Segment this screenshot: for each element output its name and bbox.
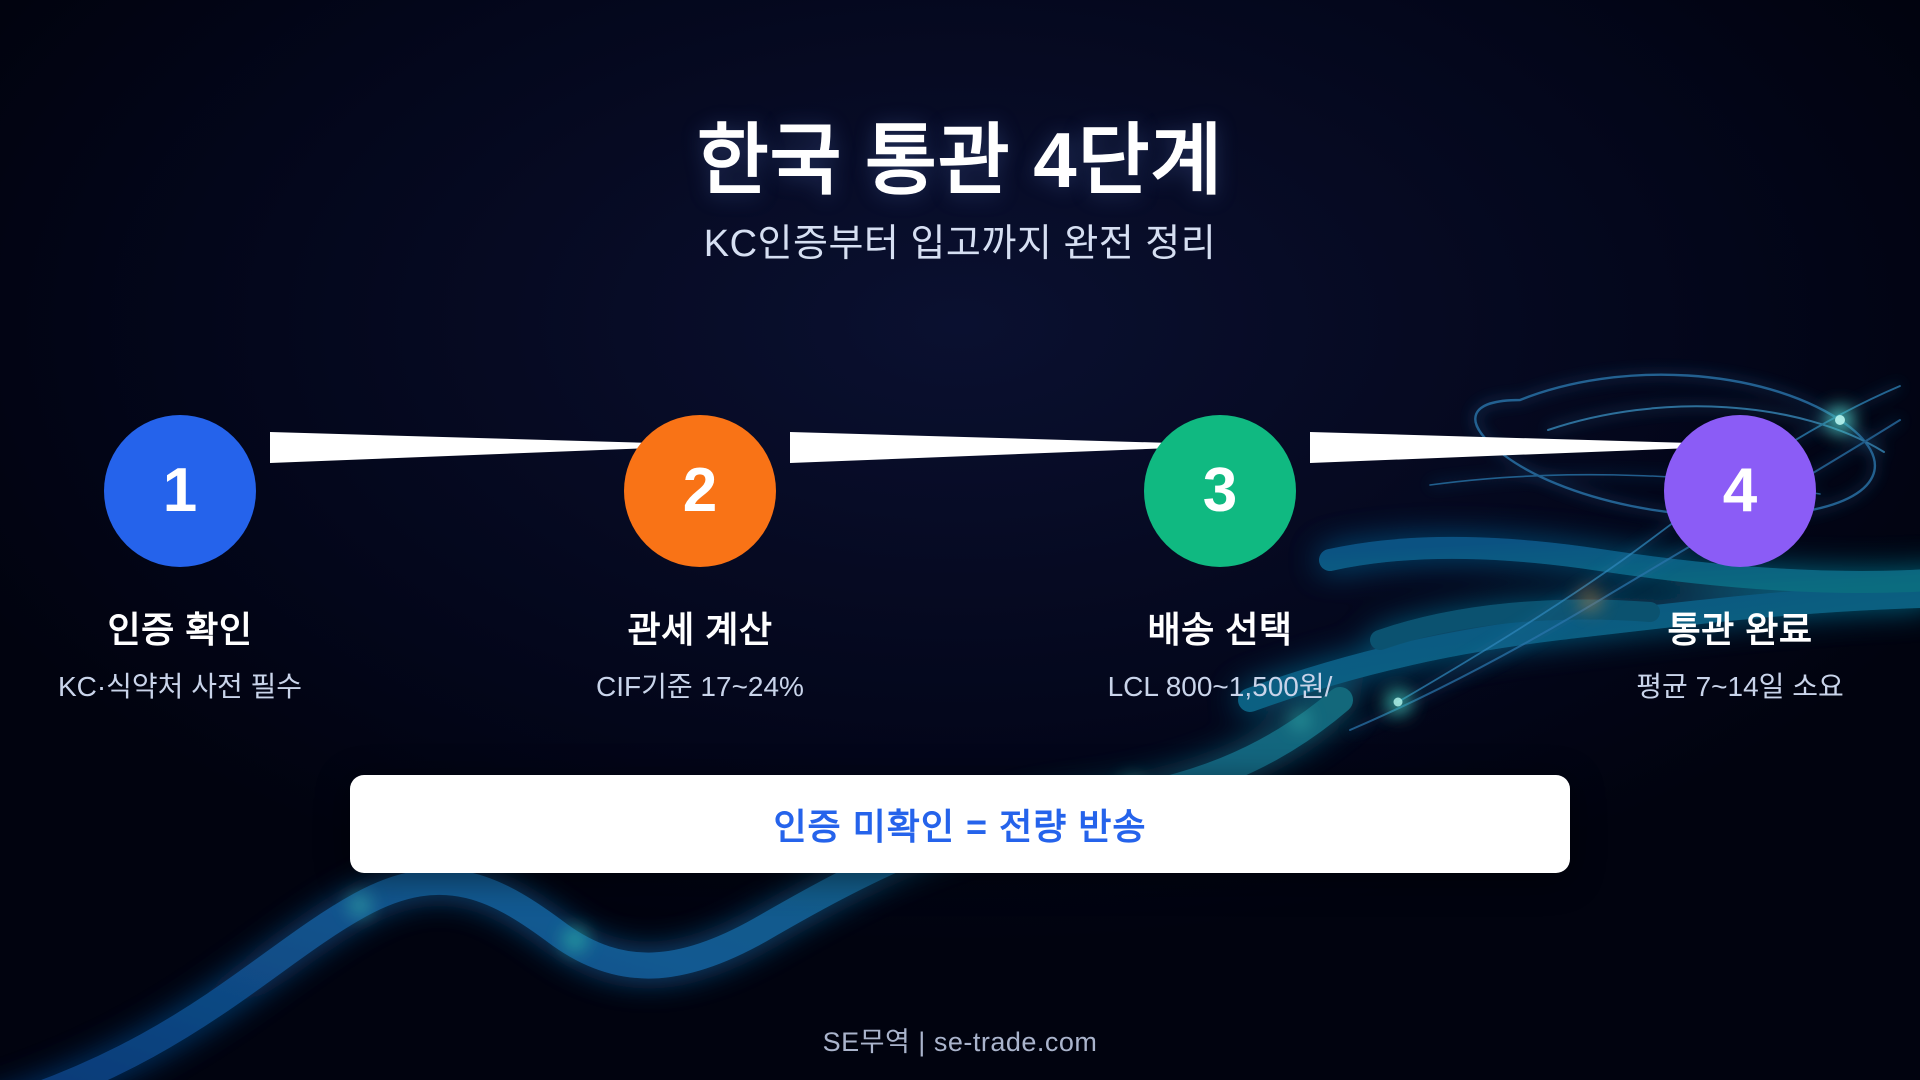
step-number-badge-2: 2 [624,415,776,567]
step-label-2: 관세 계산 [540,601,860,653]
step-item-3[interactable]: 3 배송 선택 LCL 800~1,500원/ [1060,415,1380,705]
footer: SE무역 | se-trade.com [0,1020,1920,1059]
warning-callout-text: 인증 미확인 = 전량 반송 [773,798,1146,850]
page-title: 한국 통관 4단계 [0,118,1920,202]
infographic-canvas: 한국 통관 4단계 KC인증부터 입고까지 완전 정리 1 인증 확인 KC·식… [0,0,1920,1080]
step-item-1[interactable]: 1 인증 확인 KC·식약처 사전 필수 [20,415,340,705]
step-label-1: 인증 확인 [20,601,340,653]
step-number-badge-1: 1 [104,415,256,567]
step-number-4: 4 [1723,460,1757,522]
step-number-badge-3: 3 [1144,415,1296,567]
step-label-4: 통관 완료 [1580,601,1900,653]
step-number-1: 1 [163,460,197,522]
step-desc-1: KC·식약처 사전 필수 [20,665,340,705]
step-desc-4: 평균 7~14일 소요 [1580,665,1900,705]
warning-callout-box: 인증 미확인 = 전량 반송 [350,775,1570,873]
footer-branding: SE무역 | se-trade.com [823,1027,1098,1057]
step-number-2: 2 [683,460,717,522]
step-number-badge-4: 4 [1664,415,1816,567]
step-label-3: 배송 선택 [1060,601,1380,653]
step-item-2[interactable]: 2 관세 계산 CIF기준 17~24% [540,415,860,705]
step-desc-3: LCL 800~1,500원/ [1060,665,1380,705]
page-subtitle: KC인증부터 입고까지 완전 정리 [0,212,1920,267]
title-block: 한국 통관 4단계 KC인증부터 입고까지 완전 정리 [0,118,1920,267]
step-number-3: 3 [1203,460,1237,522]
steps-row: 1 인증 확인 KC·식약처 사전 필수 2 관세 계산 CIF기준 17~24… [0,415,1920,735]
step-desc-2: CIF기준 17~24% [540,665,860,705]
step-item-4[interactable]: 4 통관 완료 평균 7~14일 소요 [1580,415,1900,705]
